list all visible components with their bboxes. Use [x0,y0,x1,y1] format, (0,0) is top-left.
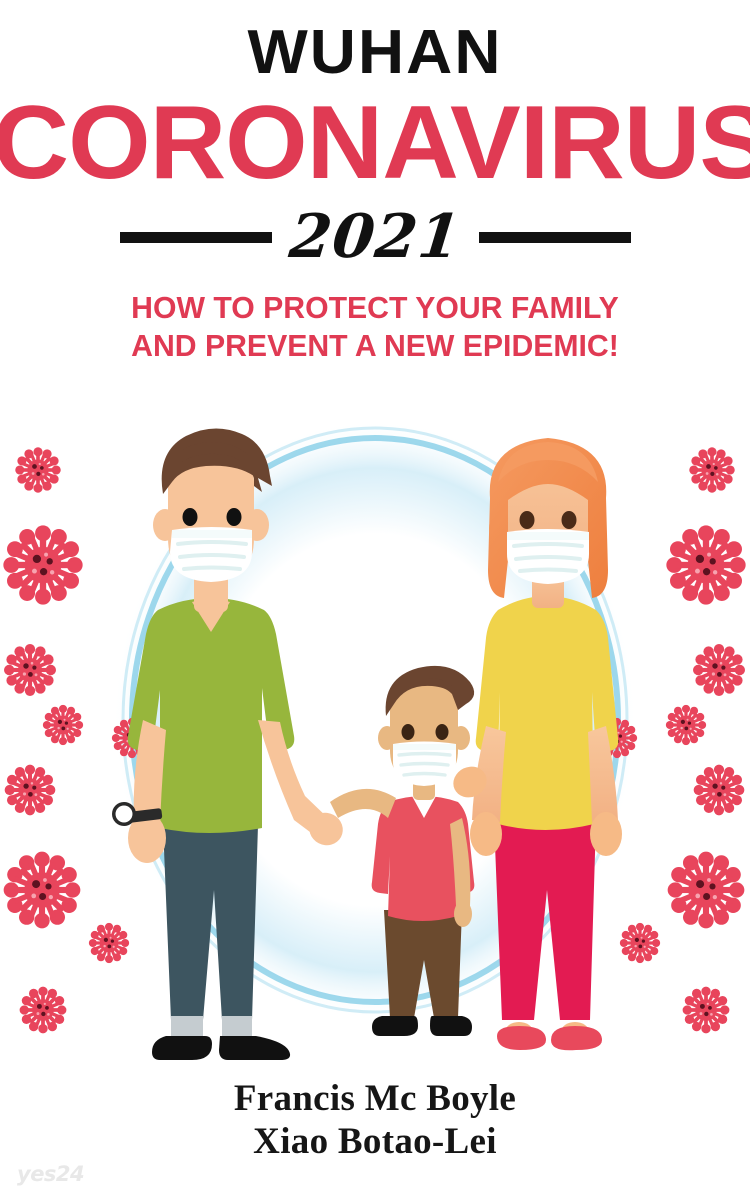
year-rule-left [120,232,272,243]
watermark-yes24: yes24 [17,1162,84,1186]
family-illustration [0,420,750,1100]
author-name-1: Francis Mc Boyle [0,1078,750,1121]
mask-mother [507,529,589,584]
mask-child [393,742,456,787]
mask-father [170,527,252,582]
year-row: 2021 [0,200,750,274]
subtitle-line-2: AND PREVENT A NEW EPIDEMIC! [4,328,747,366]
book-cover: WUHAN CORONAVIRUS 2021 HOW TO PROTECT YO… [0,0,750,1200]
author-block: Francis Mc Boyle Xiao Botao-Lei [0,1078,750,1164]
subtitle-line-1: HOW TO PROTECT YOUR FAMILY [4,290,747,328]
title-wuhan: WUHAN [0,22,750,84]
title-block: WUHAN CORONAVIRUS 2021 HOW TO PROTECT YO… [0,0,750,366]
author-name-2: Xiao Botao-Lei [0,1121,750,1164]
subtitle: HOW TO PROTECT YOUR FAMILY AND PREVENT A… [4,290,747,366]
title-coronavirus: CORONAVIRUS [0,90,750,196]
title-year: 2021 [286,207,463,267]
year-rule-right [479,232,631,243]
